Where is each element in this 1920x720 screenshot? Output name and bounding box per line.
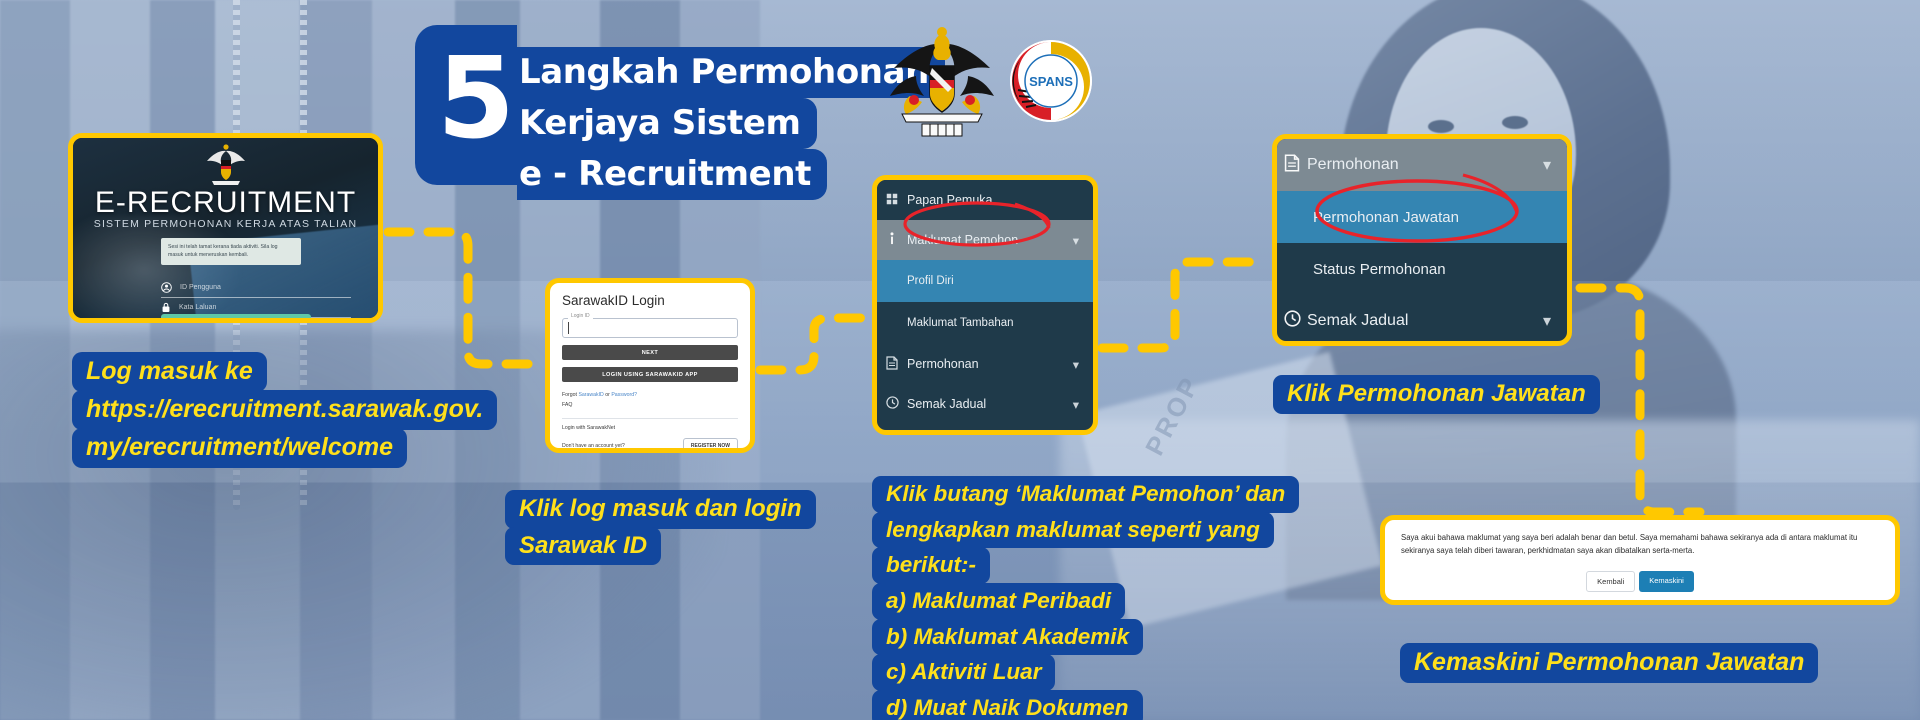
menu-label: Semak Jadual [1307, 312, 1408, 330]
title-line-2: Kerjaya Sistem [517, 98, 817, 149]
erec-userid-field[interactable]: ID Pengguna [161, 278, 351, 298]
title-banner: 5 Langkah Permohonan Kerjaya Sistem e - … [415, 25, 945, 200]
sarawakid-title: SarawakID Login [550, 283, 750, 312]
forgot-line: Forgot SarawakID or Password? [562, 390, 738, 400]
menu-item-papan-pemuka[interactable]: Papan Pemuka [877, 180, 1093, 220]
menu-label: Semak Jadual [907, 397, 986, 411]
callout-step-3: Klik butang ‘Maklumat Pemohon’ dan lengk… [872, 476, 1299, 720]
menu-label: Profil Diri [907, 275, 954, 287]
erecruitment-login-screenshot[interactable]: E-RECRUITMENT SISTEM PERMOHONAN KERJA AT… [68, 133, 383, 323]
erec-subtitle: SISTEM PERMOHONAN KERJA ATAS TALIAN [73, 218, 378, 230]
chevron-down-icon: ▾ [1543, 311, 1551, 331]
callout-line: c) Aktiviti Luar [872, 654, 1055, 691]
sarawak-coat-of-arms-icon [888, 22, 996, 140]
callout-line: a) Maklumat Peribadi [872, 583, 1125, 620]
step-count-number: 5 [415, 25, 517, 185]
declaration-buttons: Kembali Kemaskini [1385, 571, 1895, 592]
login-id-input[interactable] [562, 318, 738, 338]
callout-line: b) Maklumat Akademik [872, 619, 1143, 656]
logo-group: SPANS [888, 22, 1092, 140]
menu-label: Maklumat Pemohon [907, 233, 1018, 247]
callout-line: Sarawak ID [505, 527, 661, 566]
divider [562, 418, 738, 419]
title-line-3: e - Recruitment [517, 149, 827, 200]
menu-label: Permohonan [1307, 156, 1399, 174]
dashboard-icon [877, 193, 907, 208]
menu-label: Permohonan Jawatan [1313, 209, 1459, 226]
forgot-sarawakid-link[interactable]: SarawakID [578, 392, 603, 398]
erec-login-button[interactable]: Log Masuk [161, 314, 311, 323]
erec-password-label: Kata Laluan [179, 304, 216, 311]
menu-item-permohonan-jawatan[interactable]: Permohonan Jawatan [1277, 191, 1567, 243]
chevron-down-icon: ▾ [1073, 233, 1079, 248]
erec-userid-label: ID Pengguna [180, 284, 221, 291]
menu-label: Maklumat Tambahan [907, 317, 1014, 329]
declaration-dialog[interactable]: Saya akui bahawa maklumat yang saya beri… [1380, 515, 1900, 605]
svg-text:SPANS: SPANS [1029, 74, 1073, 89]
chevron-down-icon: ▾ [1073, 397, 1079, 412]
menu-item-semak-jadual[interactable]: Semak Jadual ▾ [1277, 295, 1567, 346]
declaration-line-2: sekiranya saya telah diberi tawaran, per… [1401, 545, 1879, 558]
erec-title: E-RECRUITMENT [73, 186, 378, 220]
erec-crest-icon [205, 142, 247, 188]
callout-line: Log masuk ke [72, 352, 267, 392]
clock-icon [877, 396, 907, 412]
spans-logo-icon: SPANS [1010, 40, 1092, 122]
menu-label: Permohonan [907, 357, 979, 371]
menu-item-maklumat-tambahan[interactable]: Maklumat Tambahan [877, 302, 1093, 344]
menu-item-profil-diri[interactable]: Profil Diri [877, 260, 1093, 302]
callout-step-4: Klik Permohonan Jawatan [1273, 375, 1600, 414]
sarawaknet-link[interactable]: Login with SarawakNet [562, 423, 738, 433]
chevron-down-icon: ▾ [1073, 357, 1079, 372]
menu-item-permohonan[interactable]: Permohonan ▾ [877, 344, 1093, 384]
register-row: Don't have an account yet? REGISTER NOW [562, 438, 738, 453]
menu-item-semak-jadual[interactable]: Semak Jadual ▾ [877, 384, 1093, 424]
applicant-menu-panel[interactable]: Papan Pemuka Maklumat Pemohon ▾ Profil D… [872, 175, 1098, 435]
lock-icon [161, 302, 171, 313]
menu-label: Papan Pemuka [907, 193, 992, 207]
kembali-button[interactable]: Kembali [1586, 571, 1635, 592]
menu-item-status-permohonan[interactable]: Status Permohonan [1277, 243, 1567, 295]
register-now-button[interactable]: REGISTER NOW [683, 438, 738, 453]
title-lines: Langkah Permohonan Kerjaya Sistem e - Re… [517, 25, 945, 200]
callout-line: Klik log masuk dan login [505, 490, 816, 529]
declaration-text: Saya akui bahawa maklumat yang saya beri… [1385, 520, 1895, 558]
forgot-password-link[interactable]: Password? [611, 392, 637, 398]
login-id-legend: Login ID [568, 313, 593, 319]
forgot-prefix: Forgot [562, 392, 578, 398]
text-caret [568, 322, 569, 334]
callout-line: https://erecruitment.sarawak.gov. [72, 390, 497, 430]
declaration-line-1: Saya akui bahawa maklumat yang saya beri… [1401, 533, 1857, 542]
callout-line: Kemaskini Permohonan Jawatan [1400, 643, 1818, 683]
document-icon [877, 356, 907, 373]
callout-line: berikut:- [872, 547, 990, 584]
callout-line: d) Muat Naik Dokumen [872, 690, 1143, 720]
callout-line: Klik butang ‘Maklumat Pemohon’ dan [872, 476, 1299, 513]
user-circle-icon [161, 282, 172, 293]
document-icon [1277, 154, 1307, 177]
application-menu-panel[interactable]: Permohonan ▾ Permohonan Jawatan Status P… [1272, 134, 1572, 346]
login-using-app-button[interactable]: LOGIN USING SARAWAKID APP [562, 367, 738, 382]
next-button[interactable]: NEXT [562, 345, 738, 360]
callout-step-2: Klik log masuk dan login Sarawak ID [505, 490, 816, 563]
sarawakid-login-screenshot[interactable]: SarawakID Login Login ID NEXT LOGIN USIN… [545, 278, 755, 453]
callout-line: my/erecruitment/welcome [72, 428, 407, 468]
callout-line: Klik Permohonan Jawatan [1273, 375, 1600, 414]
chevron-down-icon: ▾ [1543, 155, 1551, 175]
menu-item-maklumat-pemohon[interactable]: Maklumat Pemohon ▾ [877, 220, 1093, 260]
session-expired-message: Sesi ini telah tamat kerana tiada aktivi… [161, 238, 301, 265]
menu-label: Status Permohonan [1313, 261, 1446, 278]
faq-link[interactable]: FAQ [562, 400, 738, 410]
sarawakid-links: Forgot SarawakID or Password? FAQ [562, 390, 738, 411]
title-line-1: Langkah Permohonan [517, 47, 945, 98]
callout-line: lengkapkan maklumat seperti yang [872, 512, 1274, 549]
clock-icon [1277, 310, 1307, 332]
info-icon [877, 232, 907, 248]
kemaskini-button[interactable]: Kemaskini [1639, 571, 1694, 592]
callout-step-5: Kemaskini Permohonan Jawatan [1400, 643, 1818, 683]
callout-step-1: Log masuk ke https://erecruitment.sarawa… [72, 352, 497, 466]
menu-item-permohonan[interactable]: Permohonan ▾ [1277, 139, 1567, 191]
no-account-text: Don't have an account yet? [562, 443, 625, 449]
login-id-field-wrap: Login ID [562, 318, 738, 338]
